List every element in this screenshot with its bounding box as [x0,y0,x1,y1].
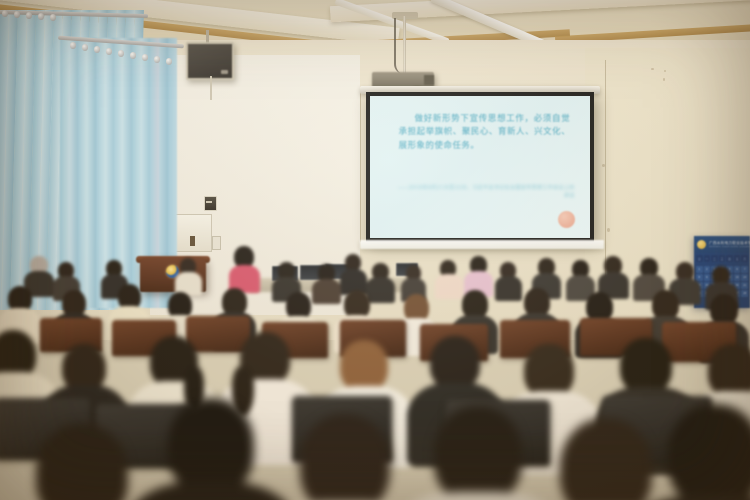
banner-header-cell: 日 [696,255,703,262]
curtain-ring [130,52,136,59]
banner-cell: 7 [741,266,748,273]
curtain-ring [70,42,76,49]
curtain-ring [14,11,20,18]
banner-header-cell: 五 [734,255,741,262]
seat [186,316,250,352]
curtain-ring [106,48,112,55]
curtain-ring [154,56,160,63]
curtain-ring [2,10,8,17]
banner-header: 广西水利电力职业技术学院 GUANGXI VOCATIONAL COLLEGE [694,236,750,253]
slide-surface: 做好新形势下宣传思想工作，必须自觉承担起举旗帜、聚民心、育新人、兴文化、展形象的… [370,96,590,238]
banner-cell: 8 [696,274,703,281]
wall-mark-3 [663,78,665,81]
wall-outlet-slot [206,201,212,203]
slide-main-text: 做好新形势下宣传思想工作，必须自觉承担起举旗帜、聚民心、育新人、兴文化、展形象的… [399,112,571,153]
wall-speaker-icon [186,42,234,80]
curtain-ring [38,13,44,20]
banner-cell: 28 [741,290,748,297]
banner-header-cell: 三 [719,255,726,262]
banner-cell: 13 [734,274,741,281]
slide-attribution: ——2018年8月21日至22日，习近平总书记在全国宣传思想工作会议上的讲话 [394,184,574,200]
curtain-ring [26,12,32,19]
curtain-ring [142,54,148,61]
wall-seam-center [360,92,361,242]
curtain-ring [118,50,124,57]
slide-accent-dot [558,211,575,228]
projector-side-panel [424,75,434,85]
wall-mark-5 [607,228,610,232]
banner-cell: 21 [741,282,748,289]
screen-lower-ledge [360,240,604,249]
projector-cable [394,18,408,74]
banner-subtitle: GUANGXI VOCATIONAL COLLEGE [709,246,750,248]
wall-outlet-box [204,196,217,211]
wall-mark-1 [651,68,654,70]
wall-switch [212,236,221,250]
banner-cell: 14 [741,274,748,281]
projection-screen: 做好新形势下宣传思想工作，必须自觉承担起举旗帜、聚民心、育新人、兴文化、展形象的… [366,92,594,242]
curtain-ring [50,14,56,21]
banner-cell: 9 [704,274,711,281]
banner-cell: 6 [734,266,741,273]
banner-header-cell: 一 [704,255,711,262]
banner-emblem-icon [697,240,706,249]
wall-hook [190,236,195,246]
banner-header-row: 日一二三四五六 [694,253,750,264]
wall-mark-2 [664,70,666,72]
wall-mark-4 [602,164,605,167]
banner-header-cell: 二 [711,255,718,262]
speaker-badge [221,70,228,74]
speaker-conduit [210,76,212,100]
curtain-ring [94,46,100,53]
banner-cell: 2 [704,266,711,273]
banner-cell: 1 [696,266,703,273]
curtain-ring [166,58,172,65]
lecture-hall-photo: 做好新形势下宣传思想工作，必须自觉承担起举旗帜、聚民心、育新人、兴文化、展形象的… [0,0,750,500]
banner-title: 广西水利电力职业技术学院 [709,241,750,246]
curtain-ring [82,44,88,51]
banner-header-cell: 四 [726,255,733,262]
banner-header-cell: 六 [741,255,748,262]
